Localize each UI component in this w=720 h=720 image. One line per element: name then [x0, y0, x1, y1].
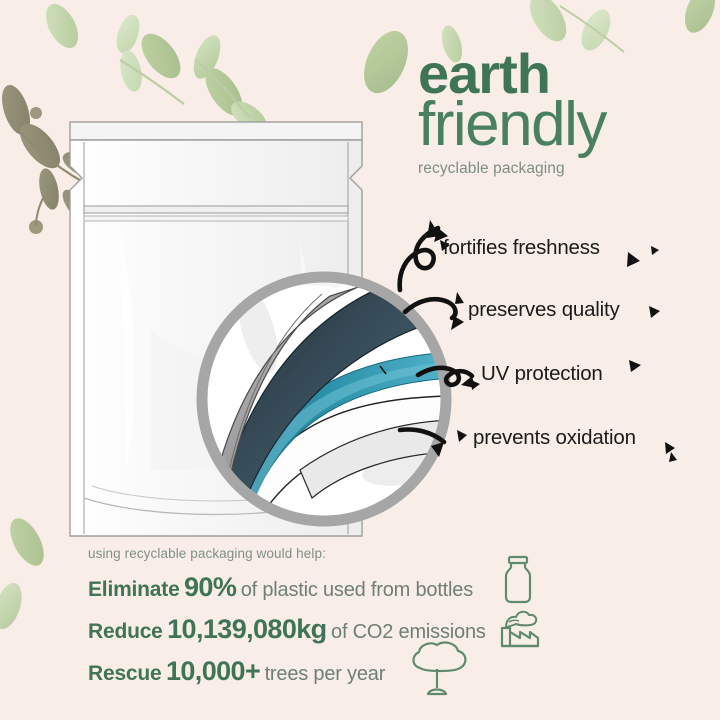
feature-label-uv-protection: UV protection: [481, 362, 603, 386]
stat-verb: Eliminate: [88, 578, 180, 601]
headline-subtitle: recyclable packaging: [418, 160, 708, 178]
stat-verb: Reduce: [88, 620, 163, 643]
stat-row-rescue: Rescue 10,000+ trees per year: [88, 656, 608, 687]
bottle-icon: [498, 554, 538, 606]
stat-number: 90%: [184, 572, 236, 602]
headline-block: earth friendly recyclable packaging: [418, 48, 708, 178]
stat-tail: of plastic used from bottles: [241, 579, 473, 601]
stat-tail: trees per year: [265, 663, 386, 685]
infographic-canvas: earth friendly recyclable packaging fort…: [0, 0, 720, 720]
stat-verb: Rescue: [88, 662, 162, 685]
factory-icon: [496, 600, 544, 650]
feature-label-preserves-quality: preserves quality: [468, 298, 620, 322]
stat-number: 10,000+: [166, 656, 260, 686]
feature-label-fortifies-freshness: fortifies freshness: [443, 236, 600, 260]
headline-line-2: friendly: [418, 96, 708, 155]
tree-icon: [404, 638, 474, 700]
feature-label-prevents-oxidation: prevents oxidation: [473, 426, 636, 450]
stat-number: 10,139,080kg: [167, 614, 326, 644]
